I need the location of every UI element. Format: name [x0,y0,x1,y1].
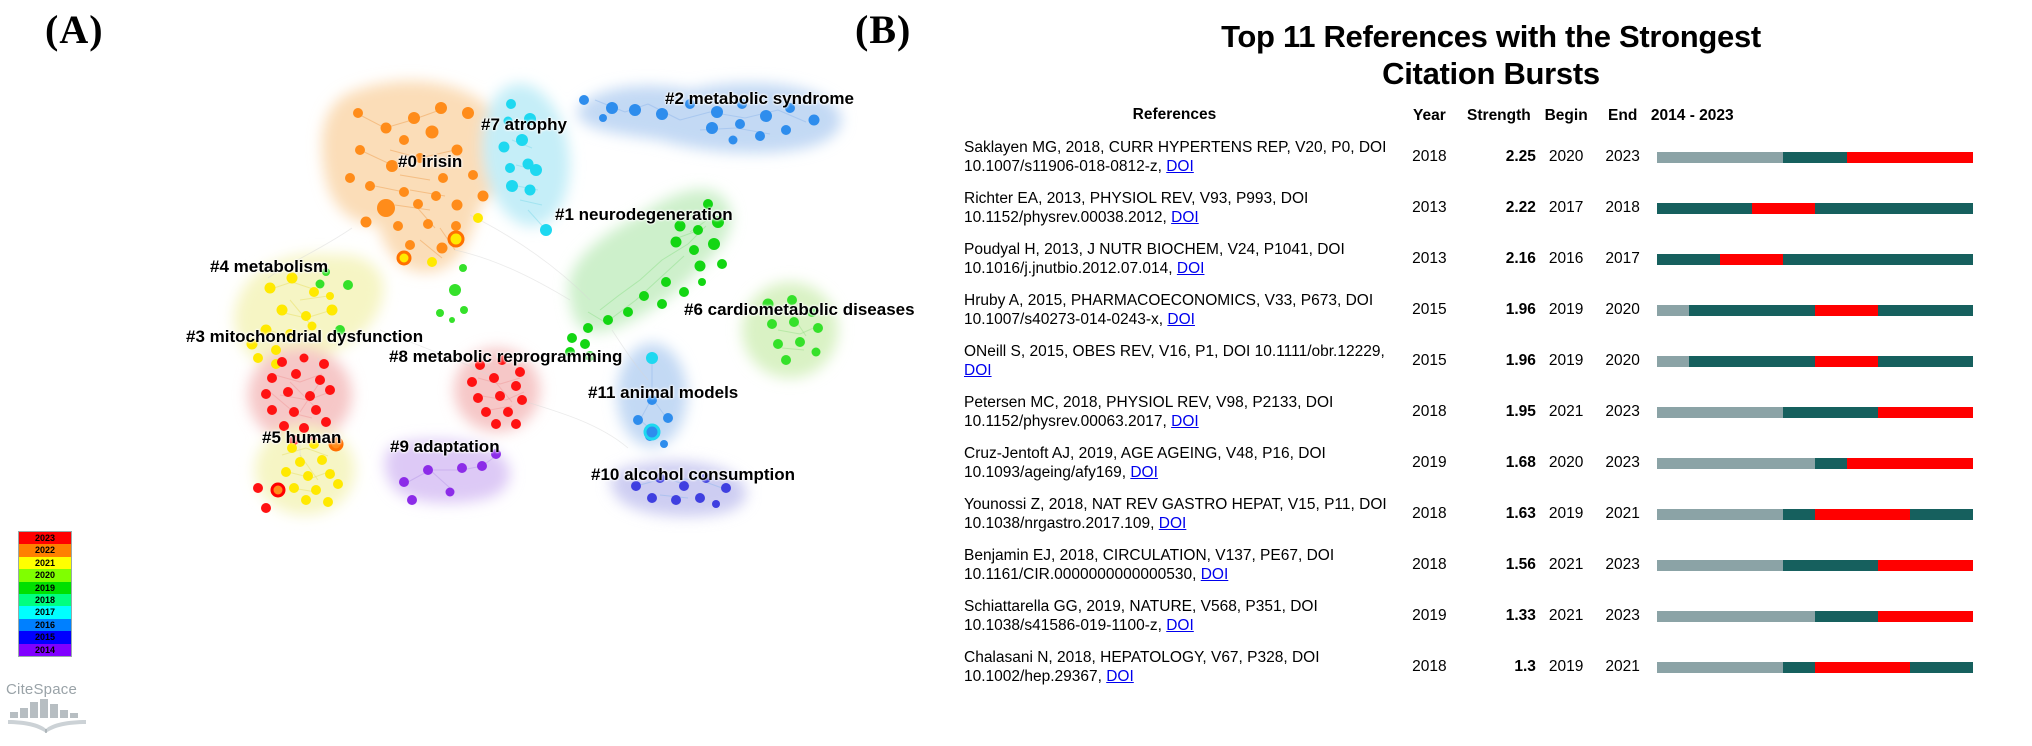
col-header-range: 2014 - 2023 [1651,105,2032,132]
reference-cell: Cruz-Jentoft AJ, 2019, AGE AGEING, V48, … [950,438,1399,489]
doi-link[interactable]: DOI [1201,566,1229,583]
burst-timeline-cell [1651,183,2032,234]
burst-title-line2: Citation Bursts [950,55,2032,92]
burst-segment-normal-after [1783,254,1973,265]
burst-timeline-bar [1657,203,1973,214]
strength-cell: 1.68 [1460,438,1538,489]
table-row: Younossi Z, 2018, NAT REV GASTRO HEPAT, … [950,489,2032,540]
legend-year-2021: 2021 [19,557,71,569]
table-row: ONeill S, 2015, OBES REV, V16, P1, DOI 1… [950,336,2032,387]
table-row: Richter EA, 2013, PHYSIOL REV, V93, P993… [950,183,2032,234]
burst-timeline-cell [1651,540,2032,591]
burst-segment-normal [1783,152,1846,163]
panel-b-label: (B) [855,6,911,53]
doi-link[interactable]: DOI [1171,209,1199,226]
burst-timeline-bar [1657,509,1973,520]
table-row: Schiattarella GG, 2019, NATURE, V568, P3… [950,591,2032,642]
table-header-row: References Year Strength Begin End 2014 … [950,105,2032,132]
doi-link[interactable]: DOI [1167,311,1195,328]
end-cell: 2021 [1594,642,1651,693]
year-cell: 2019 [1399,591,1460,642]
legend-year-2020: 2020 [19,569,71,581]
legend-year-2018: 2018 [19,594,71,606]
burst-timeline-bar [1657,560,1973,571]
doi-link[interactable]: DOI [1171,413,1199,430]
burst-timeline-cell [1651,438,2032,489]
year-cell: 2015 [1399,285,1460,336]
reference-text: Poudyal H, 2013, J NUTR BIOCHEM, V24, P1… [964,241,1345,278]
legend-year-2017: 2017 [19,606,71,618]
burst-title-line1: Top 11 References with the Strongest [950,18,2032,55]
burst-segment-pre [1657,458,1815,469]
begin-cell: 2019 [1538,285,1595,336]
doi-link[interactable]: DOI [1159,515,1187,532]
table-row: Saklayen MG, 2018, CURR HYPERTENS REP, V… [950,132,2032,183]
burst-segment-pre [1657,407,1783,418]
burst-segment-normal [1783,560,1878,571]
begin-cell: 2019 [1538,489,1595,540]
reference-text: ONeill S, 2015, OBES REV, V16, P1, DOI 1… [964,343,1385,360]
burst-segment-active [1878,560,1973,571]
reference-cell: Saklayen MG, 2018, CURR HYPERTENS REP, V… [950,132,1399,183]
burst-timeline-cell [1651,642,2032,693]
table-row: Petersen MC, 2018, PHYSIOL REV, V98, P21… [950,387,2032,438]
strength-cell: 1.3 [1460,642,1538,693]
legend-year-2023: 2023 [19,532,71,544]
reference-cell: ONeill S, 2015, OBES REV, V16, P1, DOI 1… [950,336,1399,387]
reference-cell: Hruby A, 2015, PHARMACOECONOMICS, V33, P… [950,285,1399,336]
citespace-logo-mark [6,698,98,734]
strength-cell: 2.22 [1460,183,1538,234]
strength-cell: 2.16 [1460,234,1538,285]
cluster-blobs [234,78,841,517]
burst-segment-active [1847,458,1973,469]
reference-cell: Richter EA, 2013, PHYSIOL REV, V93, P993… [950,183,1399,234]
end-cell: 2017 [1594,234,1651,285]
reference-cell: Benjamin EJ, 2018, CIRCULATION, V137, PE… [950,540,1399,591]
burst-segment-normal-after [1815,203,1973,214]
legend-year-2015: 2015 [19,631,71,643]
year-cell: 2018 [1399,540,1460,591]
col-header-end: End [1594,105,1651,132]
year-cell: 2018 [1399,489,1460,540]
burst-timeline-cell [1651,591,2032,642]
legend-year-2022: 2022 [19,544,71,556]
burst-timeline-cell [1651,234,2032,285]
year-cell: 2018 [1399,642,1460,693]
begin-cell: 2019 [1538,642,1595,693]
strength-cell: 1.95 [1460,387,1538,438]
end-cell: 2023 [1594,540,1651,591]
table-row: Poudyal H, 2013, J NUTR BIOCHEM, V24, P1… [950,234,2032,285]
strength-cell: 2.25 [1460,132,1538,183]
begin-cell: 2020 [1538,132,1595,183]
table-row: Cruz-Jentoft AJ, 2019, AGE AGEING, V48, … [950,438,2032,489]
legend-year-2016: 2016 [19,619,71,631]
burst-segment-normal [1657,254,1720,265]
end-cell: 2023 [1594,591,1651,642]
burst-segment-pre [1657,560,1783,571]
burst-segment-pre [1657,356,1689,367]
burst-segment-active [1815,662,1910,673]
reference-text: Schiattarella GG, 2019, NATURE, V568, P3… [964,598,1318,635]
burst-segment-active [1878,407,1973,418]
end-cell: 2023 [1594,387,1651,438]
burst-segment-normal-after [1910,662,1973,673]
end-cell: 2023 [1594,132,1651,183]
doi-link[interactable]: DOI [1166,617,1194,634]
year-color-legend: 2023202220212020201920182017201620152014 [18,531,72,657]
col-header-begin: Begin [1538,105,1595,132]
panel-a-network: (A) [0,0,950,746]
burst-segment-normal [1783,662,1815,673]
table-row: Chalasani N, 2018, HEPATOLOGY, V67, P328… [950,642,2032,693]
burst-segment-normal [1783,407,1878,418]
burst-timeline-bar [1657,305,1973,316]
burst-timeline-cell [1651,489,2032,540]
burst-segment-pre [1657,305,1689,316]
burst-timeline-bar [1657,662,1973,673]
year-cell: 2018 [1399,387,1460,438]
citespace-logo: CiteSpace [6,681,98,737]
burst-segment-active [1815,509,1910,520]
burst-segment-pre [1657,611,1815,622]
burst-timeline-bar [1657,254,1973,265]
legend-year-2019: 2019 [19,582,71,594]
year-cell: 2019 [1399,438,1460,489]
burst-segment-active [1752,203,1815,214]
reference-cell: Petersen MC, 2018, PHYSIOL REV, V98, P21… [950,387,1399,438]
panel-b-citation-bursts: (B) Top 11 References with the Strongest… [950,0,2032,746]
reference-cell: Poudyal H, 2013, J NUTR BIOCHEM, V24, P1… [950,234,1399,285]
citespace-network-graph[interactable] [0,0,950,746]
begin-cell: 2017 [1538,183,1595,234]
col-header-strength: Strength [1460,105,1538,132]
burst-segment-normal-after [1878,305,1973,316]
begin-cell: 2021 [1538,540,1595,591]
burst-segment-normal-after [1910,509,1973,520]
burst-timeline-bar [1657,458,1973,469]
legend-year-2014: 2014 [19,644,71,656]
year-cell: 2015 [1399,336,1460,387]
year-cell: 2013 [1399,234,1460,285]
burst-timeline-bar [1657,152,1973,163]
table-row: Benjamin EJ, 2018, CIRCULATION, V137, PE… [950,540,2032,591]
burst-segment-normal [1815,611,1878,622]
reference-text: Richter EA, 2013, PHYSIOL REV, V93, P993… [964,190,1308,227]
doi-link[interactable]: DOI [964,362,992,379]
reference-cell: Schiattarella GG, 2019, NATURE, V568, P3… [950,591,1399,642]
begin-cell: 2021 [1538,591,1595,642]
table-row: Hruby A, 2015, PHARMACOECONOMICS, V33, P… [950,285,2032,336]
reference-text: Chalasani N, 2018, HEPATOLOGY, V67, P328… [964,649,1320,686]
burst-timeline-cell [1651,132,2032,183]
burst-segment-active [1815,356,1878,367]
begin-cell: 2020 [1538,438,1595,489]
burst-segment-pre [1657,152,1783,163]
end-cell: 2020 [1594,285,1651,336]
reference-cell: Younossi Z, 2018, NAT REV GASTRO HEPAT, … [950,489,1399,540]
strength-cell: 1.56 [1460,540,1538,591]
end-cell: 2021 [1594,489,1651,540]
burst-timeline-bar [1657,356,1973,367]
col-header-references: References [950,105,1399,132]
end-cell: 2023 [1594,438,1651,489]
burst-segment-pre [1657,662,1783,673]
strength-cell: 1.96 [1460,285,1538,336]
burst-timeline-cell [1651,336,2032,387]
year-cell: 2013 [1399,183,1460,234]
burst-timeline-bar [1657,407,1973,418]
begin-cell: 2019 [1538,336,1595,387]
burst-timeline-cell [1651,387,2032,438]
burst-segment-normal [1815,458,1847,469]
end-cell: 2020 [1594,336,1651,387]
begin-cell: 2016 [1538,234,1595,285]
burst-segment-normal [1783,509,1815,520]
year-cell: 2018 [1399,132,1460,183]
burst-segment-active [1720,254,1783,265]
burst-segment-active [1878,611,1973,622]
strength-cell: 1.33 [1460,591,1538,642]
burst-segment-normal [1689,305,1815,316]
burst-timeline-cell [1651,285,2032,336]
burst-segment-normal [1689,356,1815,367]
burst-segment-active [1815,305,1878,316]
reference-text: Petersen MC, 2018, PHYSIOL REV, V98, P21… [964,394,1333,431]
reference-cell: Chalasani N, 2018, HEPATOLOGY, V67, P328… [950,642,1399,693]
doi-link[interactable]: DOI [1177,260,1205,277]
doi-link[interactable]: DOI [1130,464,1158,481]
strength-cell: 1.63 [1460,489,1538,540]
col-header-year: Year [1399,105,1460,132]
reference-text: Benjamin EJ, 2018, CIRCULATION, V137, PE… [964,547,1334,584]
citespace-logo-text: CiteSpace [6,681,98,698]
strength-cell: 1.96 [1460,336,1538,387]
doi-link[interactable]: DOI [1106,668,1134,685]
citation-burst-table: References Year Strength Begin End 2014 … [950,105,2032,693]
burst-timeline-bar [1657,611,1973,622]
burst-segment-pre [1657,509,1783,520]
doi-link[interactable]: DOI [1166,158,1194,175]
burst-title: Top 11 References with the Strongest Cit… [950,18,2032,92]
burst-segment-normal-after [1878,356,1973,367]
end-cell: 2018 [1594,183,1651,234]
burst-segment-normal [1657,203,1752,214]
begin-cell: 2021 [1538,387,1595,438]
burst-segment-active [1847,152,1973,163]
